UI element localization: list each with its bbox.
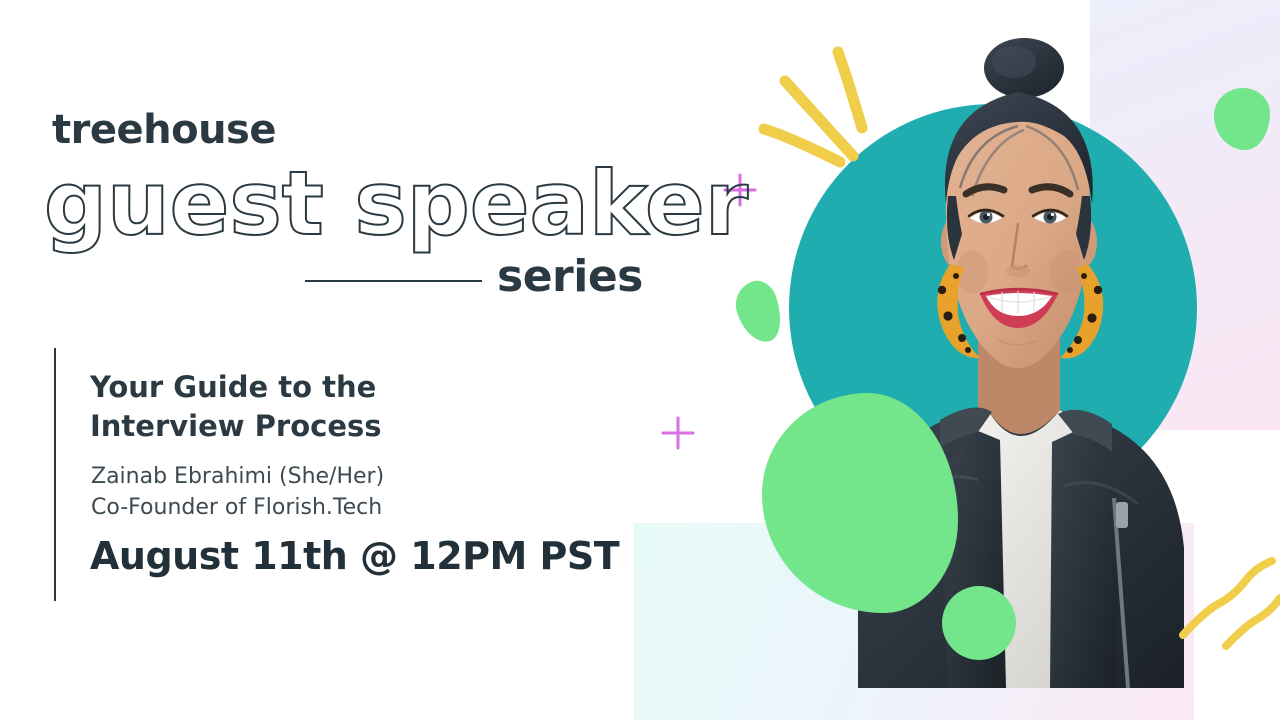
vertical-accent-rule — [54, 348, 56, 601]
promo-banner: treehouse guest speaker series Your Guid… — [0, 0, 1280, 720]
event-datetime: August 11th @ 12PM PST — [90, 536, 619, 578]
talk-title-line-1: Your Guide to the — [90, 368, 520, 407]
speaker-role: Co-Founder of Florish.Tech — [91, 492, 551, 523]
speaker-details: Zainab Ebrahimi (She/Her) Co-Founder of … — [91, 461, 551, 523]
series-word: series — [497, 255, 643, 299]
headline-outline-text: guest speaker — [44, 160, 748, 248]
brand-wordmark: treehouse — [52, 110, 276, 150]
talk-title-line-2: Interview Process — [90, 407, 520, 446]
green-blob-small — [729, 276, 788, 348]
green-blob-large — [762, 393, 958, 613]
magenta-plus-lower — [663, 418, 693, 448]
speaker-name: Zainab Ebrahimi (She/Her) — [91, 461, 551, 492]
series-divider-rule — [305, 280, 482, 282]
green-circle-bottom — [942, 586, 1016, 660]
green-blob-edge-right — [1214, 88, 1270, 150]
talk-title: Your Guide to the Interview Process — [90, 368, 520, 445]
